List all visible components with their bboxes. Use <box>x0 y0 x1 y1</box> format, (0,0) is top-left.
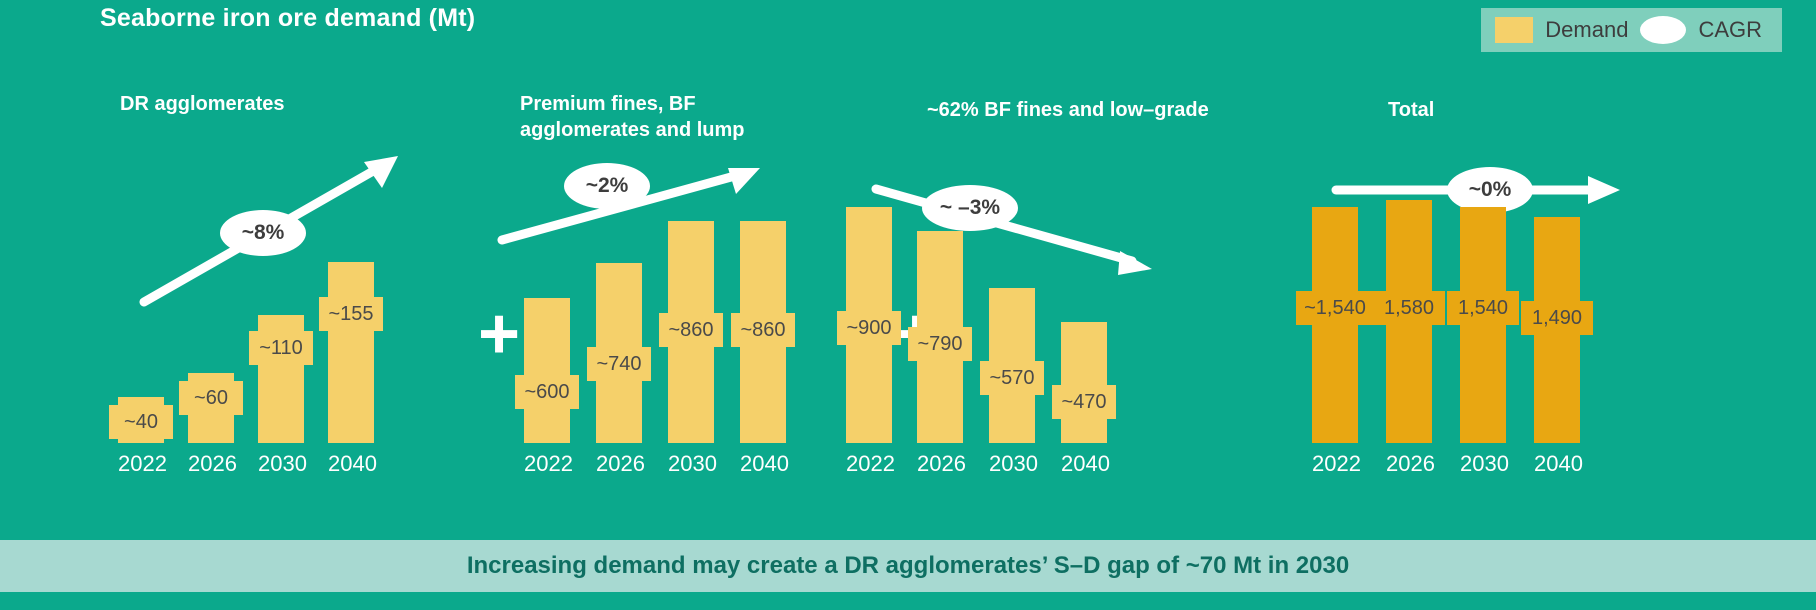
axis-tick-label: 2040 <box>1061 451 1107 477</box>
axis-tick-label: 2026 <box>1386 451 1432 477</box>
bar-fill <box>1312 207 1358 443</box>
bar-group-bf-fines-low-grade: ~62% BF fines and low–grade ~ –3% ~900 2… <box>960 0 1280 610</box>
bar-value-label: ~600 <box>515 375 579 409</box>
cagr-badge: ~ –3% <box>922 185 1018 231</box>
group-title: Premium fines, BF agglomerates and lump <box>520 92 745 143</box>
bar-fill <box>1061 322 1107 443</box>
axis-tick-label: 2022 <box>524 451 570 477</box>
bar-value-label: ~110 <box>249 331 313 365</box>
bar-fill <box>328 262 374 443</box>
bar-value-label: ~40 <box>109 405 173 439</box>
axis-tick-label: 2030 <box>1460 451 1506 477</box>
group-title: DR agglomerates <box>120 92 285 118</box>
bar-group-total: Total ~0% ~1,540 2022 1,580 2026 1,540 2… <box>1390 0 1710 610</box>
axis-tick-label: 2040 <box>740 451 786 477</box>
bar-value-label: ~1,540 <box>1296 291 1374 325</box>
bar-value-label: 1,490 <box>1521 301 1593 335</box>
axis-tick-label: 2026 <box>917 451 963 477</box>
bar-value-label: ~900 <box>837 311 901 345</box>
operator-plus: + <box>478 298 520 370</box>
group-title: Total <box>1388 98 1434 124</box>
axis-tick-label: 2022 <box>118 451 164 477</box>
axis-tick-label: 2022 <box>846 451 892 477</box>
bar-value-label: ~860 <box>731 313 795 347</box>
bar-value-label: ~470 <box>1052 385 1116 419</box>
bar-value-label: 1,540 <box>1447 291 1519 325</box>
cagr-badge: ~8% <box>220 210 306 256</box>
bar-value-label: 1,580 <box>1373 291 1445 325</box>
axis-tick-label: 2026 <box>596 451 642 477</box>
axis-tick-label: 2030 <box>989 451 1035 477</box>
axis-tick-label: 2030 <box>668 451 714 477</box>
axis-tick-label: 2030 <box>258 451 304 477</box>
axis-tick-label: 2026 <box>188 451 234 477</box>
bar-value-label: ~790 <box>908 327 972 361</box>
axis-tick-label: 2022 <box>1312 451 1358 477</box>
group-title: ~62% BF fines and low–grade <box>927 98 1209 124</box>
axis-tick-label: 2040 <box>328 451 374 477</box>
bar-value-label: ~860 <box>659 313 723 347</box>
bar-fill <box>1460 207 1506 443</box>
footer-banner-text: Increasing demand may create a DR agglom… <box>467 552 1349 580</box>
bar-value-label: ~60 <box>179 381 243 415</box>
chart-canvas: Seaborne iron ore demand (Mt) Demand CAG… <box>0 0 1816 610</box>
cagr-badge: ~2% <box>564 163 650 209</box>
bar-group-dr-agglomerates: DR agglomerates ~8% ~40 2022 ~60 2026 ~1… <box>110 0 410 610</box>
footer-banner: Increasing demand may create a DR agglom… <box>0 540 1816 592</box>
bar-value-label: ~740 <box>587 347 651 381</box>
axis-tick-label: 2040 <box>1534 451 1580 477</box>
bar-value-label: ~155 <box>319 297 383 331</box>
bar-fill <box>524 298 570 443</box>
bar-group-premium-fines: Premium fines, BF agglomerates and lump … <box>520 0 820 610</box>
bar-value-label: ~570 <box>980 361 1044 395</box>
cagr-arrow-down-icon <box>868 175 1168 280</box>
